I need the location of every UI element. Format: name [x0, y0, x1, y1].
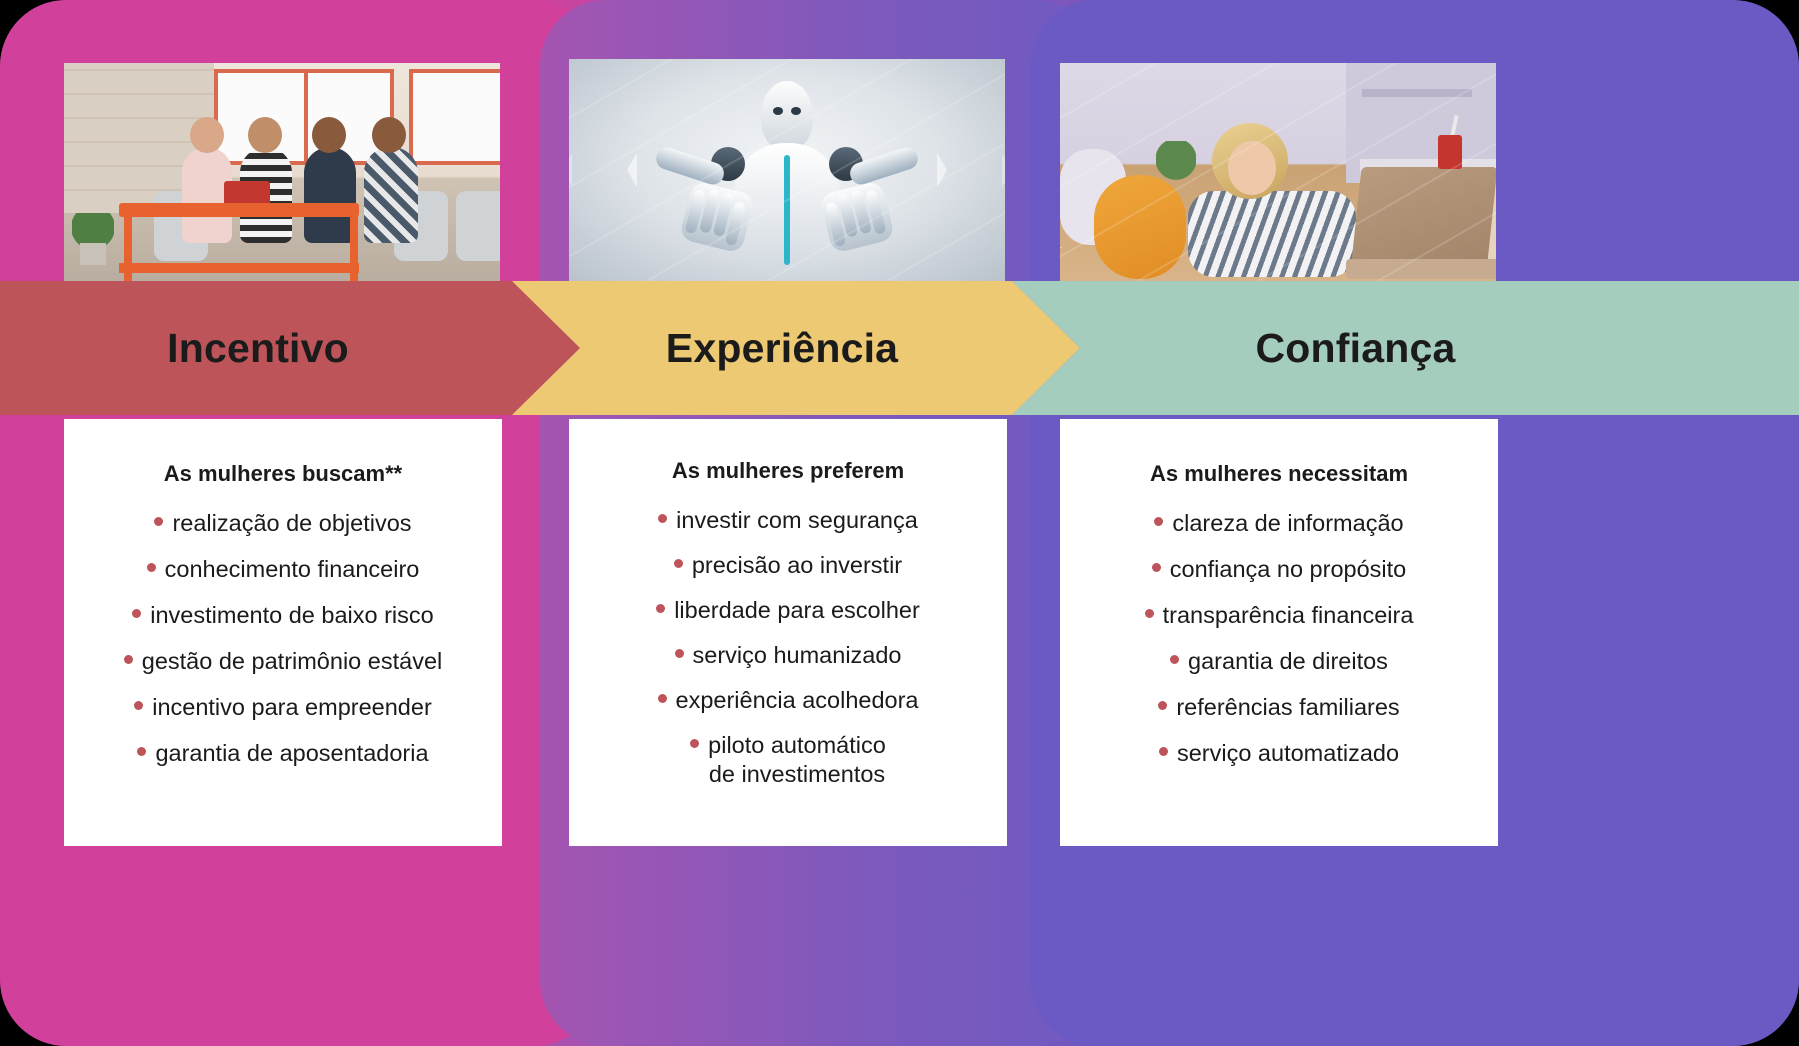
list-item: liberdade para escolher: [569, 596, 1007, 624]
list-item: garantia de aposentadoria: [64, 739, 502, 767]
stage-title-confianca: Confiança: [1256, 325, 1456, 372]
list-item: serviço humanizado: [569, 641, 1007, 669]
bullet-icon: [675, 649, 684, 658]
list-item-label: transparência financeira: [1163, 602, 1414, 628]
card-incentivo: As mulheres buscam** realização de objet…: [64, 419, 502, 846]
photo-experiencia: [569, 59, 1005, 281]
bullet-icon: [154, 517, 163, 526]
list-item-label: garantia de direitos: [1188, 648, 1388, 674]
bullet-icon: [1154, 517, 1163, 526]
bullet-icon: [124, 655, 133, 664]
list-item-label: piloto automático: [708, 732, 886, 758]
bullet-icon: [656, 604, 665, 613]
card-heading-incentivo: As mulheres buscam**: [64, 419, 502, 487]
bullet-icon: [1152, 563, 1161, 572]
list-item-label: conhecimento financeiro: [165, 556, 420, 582]
bullet-icon: [1145, 609, 1154, 618]
list-item-label: experiência acolhedora: [676, 687, 919, 713]
photo-incentivo: [64, 63, 500, 281]
list-item-label: gestão de patrimônio estável: [142, 648, 442, 674]
bullet-icon: [1170, 655, 1179, 664]
list-item: piloto automático de investimentos: [569, 731, 1007, 789]
list-item-label-line2: de investimentos: [583, 760, 993, 789]
list-item: confiança no propósito: [1060, 555, 1498, 583]
list-item-label: garantia de aposentadoria: [155, 740, 428, 766]
stage-banner-incentivo[interactable]: Incentivo: [0, 281, 580, 415]
list-item-label: confiança no propósito: [1170, 556, 1406, 582]
list-confianca: clareza de informação confiança no propó…: [1060, 487, 1498, 767]
list-item: transparência financeira: [1060, 601, 1498, 629]
bullet-icon: [1159, 747, 1168, 756]
list-item: garantia de direitos: [1060, 647, 1498, 675]
bullet-icon: [147, 563, 156, 572]
list-item-label: realização de objetivos: [172, 510, 411, 536]
stage-title-experiencia: Experiência: [666, 325, 898, 372]
list-item: realização de objetivos: [64, 509, 502, 537]
bullet-icon: [137, 747, 146, 756]
list-item-label: serviço automatizado: [1177, 740, 1399, 766]
list-incentivo: realização de objetivos conhecimento fin…: [64, 487, 502, 767]
list-item: gestão de patrimônio estável: [64, 647, 502, 675]
card-heading-experiencia: As mulheres preferem: [569, 419, 1007, 484]
list-item-label: serviço humanizado: [693, 642, 902, 668]
list-item: incentivo para empreender: [64, 693, 502, 721]
list-item-label: investimento de baixo risco: [150, 602, 433, 628]
list-item: serviço automatizado: [1060, 739, 1498, 767]
list-item-label: incentivo para empreender: [152, 694, 432, 720]
list-experiencia: investir com segurança precisão ao inver…: [569, 484, 1007, 789]
list-item-label: clareza de informação: [1172, 510, 1403, 536]
stage-banner-confianca[interactable]: Confiança: [1012, 281, 1799, 415]
stage-title-incentivo: Incentivo: [167, 325, 349, 372]
list-item: referências familiares: [1060, 693, 1498, 721]
list-item: experiência acolhedora: [569, 686, 1007, 714]
card-experiencia: As mulheres preferem investir com segura…: [569, 419, 1007, 846]
gradient-frame: stock | #440157 08 Incentivo Experiência…: [0, 0, 1799, 1046]
bullet-icon: [658, 514, 667, 523]
list-item-label: referências familiares: [1176, 694, 1399, 720]
list-item-label: investir com segurança: [676, 507, 918, 533]
bullet-icon: [658, 694, 667, 703]
bullet-icon: [132, 609, 141, 618]
infographic-stage: stock | #440157 08 Incentivo Experiência…: [0, 0, 1799, 1046]
bullet-icon: [134, 701, 143, 710]
list-item: investimento de baixo risco: [64, 601, 502, 629]
bullet-icon: [674, 559, 683, 568]
photo-confianca: stock | #440157 08: [1060, 63, 1496, 281]
list-item: investir com segurança: [569, 506, 1007, 534]
bullet-icon: [690, 739, 699, 748]
list-item: clareza de informação: [1060, 509, 1498, 537]
stock-watermark: stock | #440157 08: [1060, 190, 1062, 275]
list-item-label: liberdade para escolher: [674, 597, 920, 623]
bullet-icon: [1158, 701, 1167, 710]
card-confianca: As mulheres necessitam clareza de inform…: [1060, 419, 1498, 846]
card-heading-confianca: As mulheres necessitam: [1060, 419, 1498, 487]
list-item: conhecimento financeiro: [64, 555, 502, 583]
list-item-label: precisão ao inverstir: [692, 552, 902, 578]
list-item: precisão ao inverstir: [569, 551, 1007, 579]
stage-banner-experiencia[interactable]: Experiência: [512, 281, 1080, 415]
